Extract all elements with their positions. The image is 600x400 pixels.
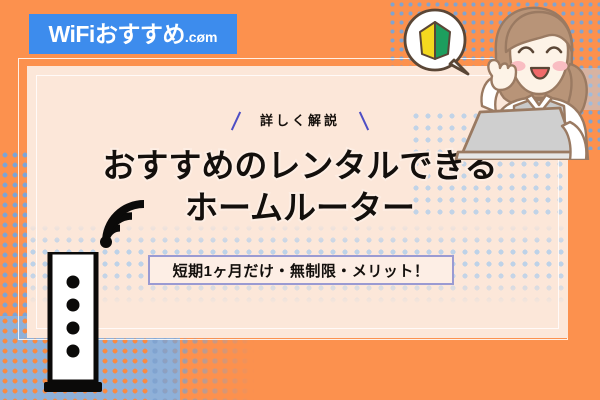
status-badge-label: 短期1ヶ月だけ・無制限・メリット！ [173,260,430,281]
slash-left-icon [228,111,244,129]
site-logo-text: WiFiおすすめ.cøm [48,23,217,46]
thumbnail-canvas: WiFiおすすめ.cøm 詳しく解説 おすすめのレンタルできる ホームルーター … [0,0,600,400]
eyebrow-label: 詳しく解説 [260,110,340,129]
status-badge: 短期1ヶ月だけ・無制限・メリット！ [148,255,454,285]
home-router-illustration [42,252,104,400]
site-logo-domain: .cøm [185,29,218,45]
woman-with-laptop-illustration [398,2,598,165]
slash-right-icon [356,111,372,129]
wifi-signal-icon [98,196,156,250]
site-logo[interactable]: WiFiおすすめ.cøm [29,14,237,54]
speech-bubble [405,10,468,74]
page-title-line-2: ホームルーター [0,187,600,229]
